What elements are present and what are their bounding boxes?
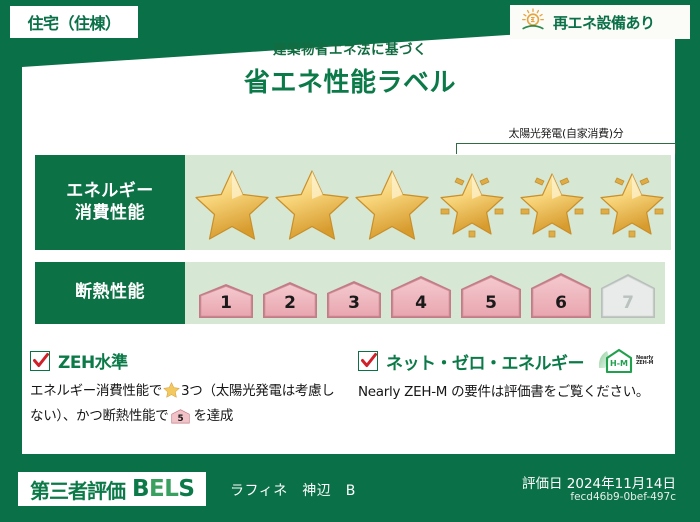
insulation-performance-band: 1 2 3 <box>185 262 665 324</box>
project-name: ラフィネ 神辺 B <box>230 480 356 500</box>
energy-performance-row: エネルギー 消費性能 太陽光発電(自家消費)分 <box>35 155 665 250</box>
criteria-zeh-level: ZEH水準 エネルギー消費性能で3つ（太陽光発電は考慮しない）、かつ断熱性能で5… <box>30 348 350 432</box>
star-icon-solar <box>593 165 671 241</box>
bels-certification-chip: 第三者評価 BELS <box>18 472 206 506</box>
category-chip: 住宅（住棟） <box>8 4 140 40</box>
energy-performance-label: エネルギー 消費性能 <box>35 155 185 250</box>
energy-label-line1: エネルギー <box>66 181 154 202</box>
bels-letter-b: B <box>132 476 149 502</box>
star-icon <box>273 165 351 241</box>
energy-label-line2: 消費性能 <box>66 203 154 224</box>
insulation-grade-badge: 3 <box>323 275 385 318</box>
inline-house-badge-icon: 5 <box>170 407 191 432</box>
insulation-grade-number: 6 <box>527 293 595 313</box>
insulation-performance-label: 断熱性能 <box>35 262 185 324</box>
insulation-grade-number: 4 <box>387 293 455 313</box>
criteria-zeh-title: ZEH水準 <box>58 348 128 373</box>
bels-letter-l: L <box>164 476 178 502</box>
nearly-zeh-m-caption: Nearly ZEH-M <box>636 356 653 367</box>
insulation-grade-badge-inactive: 7 <box>597 269 659 318</box>
criteria-nze-title: ネット・ゼロ・エネルギー <box>386 349 584 374</box>
svg-text:5: 5 <box>178 414 184 424</box>
energy-performance-band: 太陽光発電(自家消費)分 <box>185 155 671 250</box>
inline-star-icon <box>163 381 180 406</box>
insulation-grade-number: 7 <box>597 293 659 313</box>
page-title: 省エネ性能ラベル <box>0 62 700 99</box>
insulation-grade-number: 5 <box>457 293 525 313</box>
criteria-zeh-body-pre: エネルギー消費性能で <box>30 383 162 399</box>
category-chip-label: 住宅（住棟） <box>27 10 120 34</box>
bels-energy-label: 住宅（住棟） 再エネ設備あり 建築物省エネ法に基づく <box>0 0 700 522</box>
insulation-grade-number: 3 <box>323 293 385 313</box>
checkbox-checked-icon <box>358 351 378 371</box>
bels-wordmark: BELS <box>132 476 194 502</box>
footer-bar: 第三者評価 BELS ラフィネ 神辺 B 評価日 2024年11月14日 fec… <box>0 460 700 522</box>
nearly-zeh-m-logo: H-M Nearly ZEH-M <box>596 348 653 374</box>
criteria-zeh-header: ZEH水準 <box>30 348 336 373</box>
criteria-nze-body: Nearly ZEH-M の要件は評価書をご覧ください。 <box>358 382 656 404</box>
star-rating-strip <box>185 155 671 250</box>
criteria-net-zero-energy: ネット・ゼロ・エネルギー H-M N <box>350 348 670 432</box>
bels-letter-e: E <box>149 476 164 502</box>
star-icon-solar <box>433 165 511 241</box>
insulation-grade-badge: 2 <box>259 276 321 318</box>
title-block: 建築物省エネ法に基づく 省エネ性能ラベル <box>0 38 700 99</box>
star-icon <box>353 165 431 241</box>
insulation-grade-badge: 6 <box>527 269 595 318</box>
star-icon-solar <box>513 165 591 241</box>
nearly-zeh-m-caption-line2: ZEH-M <box>636 360 653 366</box>
insulation-label-text: 断熱性能 <box>75 282 145 303</box>
insulation-performance-row: 断熱性能 1 <box>35 262 665 324</box>
svg-text:H-M: H-M <box>610 359 628 368</box>
insulation-grade-strip: 1 2 3 <box>185 262 665 324</box>
evaluation-date: 評価日 2024年11月14日 <box>522 472 676 492</box>
checkbox-checked-icon <box>30 351 50 371</box>
insulation-grade-badge: 1 <box>195 278 257 318</box>
insulation-grade-number: 1 <box>195 293 257 313</box>
criteria-section: ZEH水準 エネルギー消費性能で3つ（太陽光発電は考慮しない）、かつ断熱性能で5… <box>30 348 670 432</box>
insulation-grade-badge: 4 <box>387 271 455 318</box>
renewable-energy-badge: 再エネ設備あり <box>510 5 690 39</box>
criteria-nze-header: ネット・ゼロ・エネルギー H-M N <box>358 348 656 374</box>
renewable-badge-label: 再エネ設備あり <box>553 12 655 33</box>
bels-letter-s: S <box>178 476 194 502</box>
evaluation-id: fecd46b9-0bef-497c <box>570 491 676 503</box>
label-subtitle: 建築物省エネ法に基づく <box>0 38 700 58</box>
criteria-zeh-body: エネルギー消費性能で3つ（太陽光発電は考慮しない）、かつ断熱性能で5を達成 <box>30 381 336 432</box>
solar-sun-icon <box>520 8 546 36</box>
insulation-grade-number: 2 <box>259 293 321 313</box>
star-icon <box>193 165 271 241</box>
bels-chip-jp-label: 第三者評価 <box>30 475 125 504</box>
criteria-zeh-body-post: を達成 <box>193 408 233 424</box>
insulation-grade-badge: 5 <box>457 270 525 318</box>
